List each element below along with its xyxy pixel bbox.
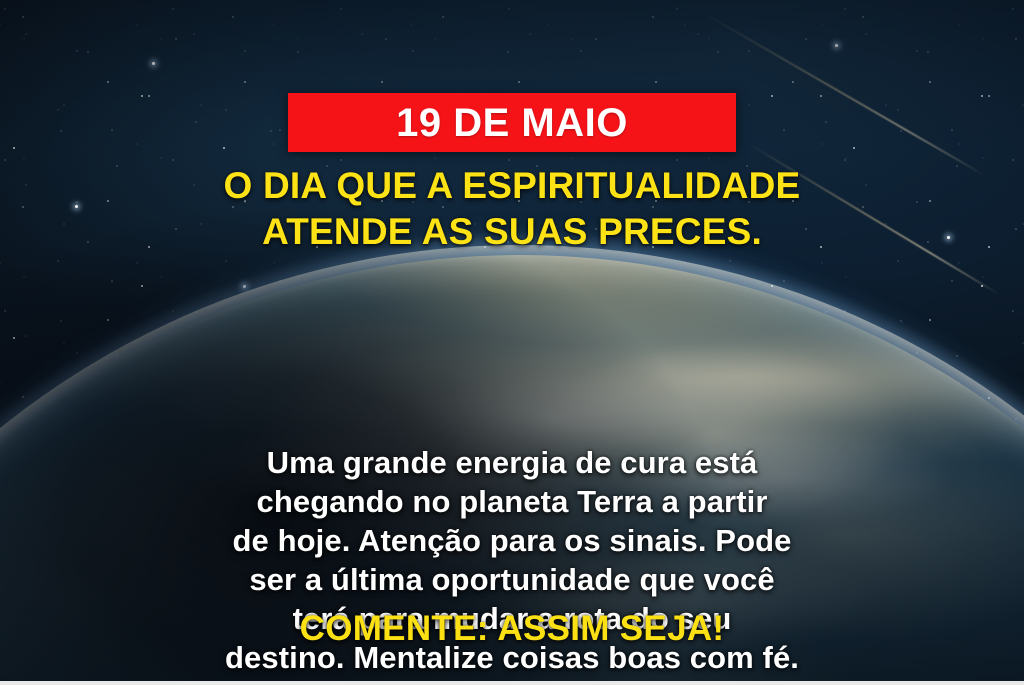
body-line-4: ser a última oportunidade que você xyxy=(56,560,968,599)
body-line-1: Uma grande energia de cura está xyxy=(56,443,968,482)
headline-line-1: O DIA QUE A ESPIRITUALIDADE xyxy=(224,165,801,206)
call-to-action-text: COMENTE: ASSIM SEJA! xyxy=(0,611,1024,646)
bottom-edge-strip xyxy=(0,681,1024,685)
date-banner-text: 19 DE MAIO xyxy=(396,103,628,143)
poster-canvas: 19 DE MAIO O DIA QUE A ESPIRITUALIDADE A… xyxy=(0,0,1024,685)
headline-line-2: ATENDE AS SUAS PRECES. xyxy=(46,209,978,255)
body-line-3: de hoje. Atenção para os sinais. Pode xyxy=(56,521,968,560)
headline: O DIA QUE A ESPIRITUALIDADE ATENDE AS SU… xyxy=(0,163,1024,254)
date-banner: 19 DE MAIO xyxy=(288,93,736,152)
poster-content: 19 DE MAIO O DIA QUE A ESPIRITUALIDADE A… xyxy=(0,0,1024,685)
body-line-2: chegando no planeta Terra a partir xyxy=(56,482,968,521)
